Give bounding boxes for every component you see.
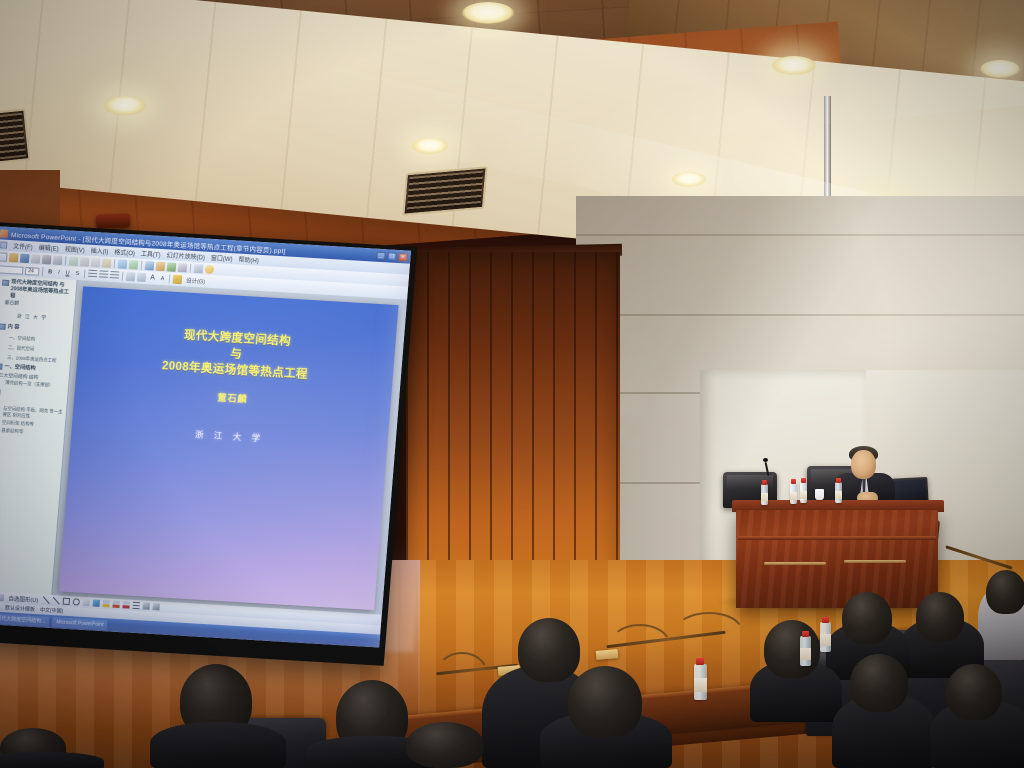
align-left-icon[interactable] bbox=[88, 270, 98, 280]
audience-head-r2 bbox=[916, 592, 964, 642]
mail-icon[interactable] bbox=[31, 254, 41, 264]
audience-shoulder-l4 bbox=[0, 752, 104, 768]
outline-slide-thumb bbox=[0, 323, 6, 329]
slide-layout-icon[interactable] bbox=[178, 262, 188, 272]
underline-button[interactable]: U bbox=[63, 270, 71, 276]
screen-roller-housing bbox=[96, 213, 131, 228]
air-vent-left-slats bbox=[0, 113, 26, 159]
wordart-icon[interactable] bbox=[93, 599, 101, 606]
outline-slide-3[interactable]: 3 一、空间结构 bbox=[0, 362, 68, 374]
design-icon[interactable] bbox=[173, 275, 183, 285]
powerpoint-window: Microsoft PowerPoint - [现代大跨度空间结构与2008年奥… bbox=[0, 226, 411, 647]
insert-picture-icon[interactable] bbox=[167, 262, 177, 272]
bottle-label bbox=[694, 678, 707, 692]
air-vent-slats bbox=[407, 171, 484, 212]
paste-icon[interactable] bbox=[102, 258, 112, 268]
slide-editing-pane[interactable]: 现代大跨度空间结构 与 2008年奥运场馆等热点工程 董石麟 浙 江 大 学 bbox=[52, 280, 407, 615]
toolbar-separator-4 bbox=[190, 263, 192, 272]
audience-head-r3 bbox=[842, 592, 892, 644]
water-bottle-podium-2 bbox=[790, 483, 797, 504]
outline-bullet-3: 三、2008年奥运热点工程 bbox=[0, 353, 68, 364]
menu-item-insert[interactable]: 插入(I) bbox=[90, 246, 108, 256]
bottle-label bbox=[835, 491, 842, 499]
bottle-label bbox=[800, 648, 811, 660]
menu-item-edit[interactable]: 编辑(E) bbox=[38, 243, 59, 253]
water-bottle-audience-1 bbox=[820, 622, 831, 652]
bottle-label bbox=[800, 491, 807, 499]
menu-item-file[interactable]: 文件(F) bbox=[13, 241, 33, 251]
ceiling-light-7 bbox=[980, 60, 1020, 78]
outline-slide-thumb bbox=[0, 363, 3, 369]
new-file-icon[interactable] bbox=[0, 252, 8, 262]
ceiling-light-2 bbox=[772, 56, 816, 75]
audience-shoulder-l1 bbox=[150, 722, 286, 768]
ceiling-light-6 bbox=[412, 138, 448, 154]
bullets-icon[interactable] bbox=[126, 272, 136, 282]
menu-item-tools[interactable]: 工具(T) bbox=[141, 249, 161, 259]
audience-head-r5 bbox=[850, 654, 908, 712]
design-button[interactable]: 设计(G) bbox=[184, 276, 208, 285]
screen-surface: Microsoft PowerPoint - [现代大跨度空间结构与2008年奥… bbox=[0, 226, 411, 647]
bottle-label bbox=[761, 493, 768, 501]
water-bottle-audience-2 bbox=[800, 636, 811, 666]
font-size-box[interactable]: 24 bbox=[25, 266, 40, 275]
font-color-icon[interactable] bbox=[123, 601, 131, 608]
toolbar-separator bbox=[65, 256, 67, 265]
outline-slide-thumb bbox=[0, 389, 1, 395]
water-bottle-audience-3 bbox=[694, 664, 707, 700]
audience-head-r4 bbox=[764, 620, 820, 678]
align-right-icon[interactable] bbox=[110, 271, 120, 281]
language-indicator: 中文(中国) bbox=[40, 606, 64, 614]
align-center-icon[interactable] bbox=[99, 270, 109, 280]
oval-icon[interactable] bbox=[73, 598, 81, 605]
outline-slide-title: 一、空间结构 bbox=[4, 363, 36, 372]
podium-handle-left bbox=[764, 562, 826, 565]
bottle-cap bbox=[802, 631, 809, 637]
podium-front-panel bbox=[736, 510, 938, 608]
taskbar-item-2[interactable]: Microsoft PowerPoint bbox=[52, 617, 108, 630]
audience-head-r1 bbox=[986, 570, 1024, 614]
cut-icon[interactable] bbox=[80, 257, 90, 267]
water-bottle-podium-3 bbox=[800, 482, 807, 503]
redo-icon[interactable] bbox=[129, 260, 139, 270]
outline-slide-title: 现代大跨度空间结构 与 2008年奥运场馆等热点工程 bbox=[10, 279, 75, 304]
audience-head-c2 bbox=[568, 666, 642, 738]
outline-bullet-6: 与空间结构 平板、网壳 等一主要区 相对应性 bbox=[0, 405, 64, 422]
italic-button[interactable]: I bbox=[56, 269, 62, 275]
rectangle-icon[interactable] bbox=[63, 598, 71, 605]
bottle-label bbox=[820, 634, 831, 646]
line-style-icon[interactable] bbox=[133, 602, 141, 609]
projection-screen: Microsoft PowerPoint - [现代大跨度空间结构与2008年奥… bbox=[0, 222, 417, 666]
numbering-icon[interactable] bbox=[137, 273, 147, 283]
floor-outlet-box-2 bbox=[596, 649, 619, 660]
spellcheck-icon[interactable] bbox=[69, 256, 79, 266]
fmt-separator-3 bbox=[122, 272, 124, 281]
outline-university: 浙 江 大 学 bbox=[0, 311, 72, 323]
wood-slat-lines bbox=[406, 252, 620, 608]
document-icon bbox=[0, 241, 7, 248]
increase-font-button[interactable]: A bbox=[148, 274, 157, 281]
outline-slide-title: 内 容 bbox=[7, 323, 19, 331]
air-vent-center bbox=[402, 166, 487, 216]
save-icon[interactable] bbox=[20, 253, 30, 263]
menu-item-window[interactable]: 窗口(W) bbox=[211, 253, 233, 263]
water-bottle-podium-4 bbox=[835, 482, 842, 503]
print-icon[interactable] bbox=[42, 254, 52, 264]
audience-head-c1 bbox=[518, 618, 580, 682]
arrow-icon[interactable] bbox=[53, 597, 61, 604]
select-arrow-icon[interactable] bbox=[0, 594, 4, 601]
autoshapes-button[interactable]: 自选图形(U) bbox=[6, 594, 40, 604]
toolbar-separator-2 bbox=[114, 259, 116, 268]
air-vent-left bbox=[0, 108, 31, 163]
ceiling-light-4 bbox=[672, 172, 706, 187]
outline-slide-thumb bbox=[2, 279, 9, 285]
insert-chart-icon[interactable] bbox=[156, 261, 166, 271]
slide-organization: 浙 江 大 学 bbox=[195, 428, 265, 444]
bottle-label bbox=[790, 492, 797, 500]
tea-cup-podium bbox=[815, 489, 824, 500]
menu-item-help[interactable]: 帮助(H) bbox=[238, 255, 259, 265]
bottle-cap bbox=[836, 478, 841, 483]
insert-table-icon[interactable] bbox=[145, 261, 155, 271]
help-icon[interactable] bbox=[205, 264, 215, 274]
bottle-cap bbox=[762, 480, 767, 485]
bold-button[interactable]: B bbox=[46, 269, 54, 275]
audience-head-l3 bbox=[406, 722, 484, 768]
undo-icon[interactable] bbox=[118, 259, 128, 269]
close-button[interactable]: ✕ bbox=[398, 253, 408, 262]
bottle-cap bbox=[822, 617, 829, 623]
ceiling-light-1 bbox=[462, 2, 514, 24]
slide-title-line-3: 2008年奥运场馆等热点工程 bbox=[161, 358, 308, 383]
podium-handle-right bbox=[844, 560, 906, 563]
font-name-box[interactable] bbox=[0, 265, 24, 275]
title-slide[interactable]: 现代大跨度空间结构 与 2008年奥运场馆等热点工程 董石麟 浙 江 大 学 bbox=[59, 286, 399, 610]
restore-button[interactable]: ❐ bbox=[387, 252, 397, 261]
audience-head-r6 bbox=[946, 664, 1002, 720]
powerpoint-workspace: 1 现代大跨度空间结构 与 2008年奥运场馆等热点工程 董石麟 浙 江 大 学… bbox=[0, 275, 407, 615]
menu-item-format[interactable]: 格式(O) bbox=[114, 247, 135, 257]
outline-slide-1[interactable]: 1 现代大跨度空间结构 与 2008年奥运场馆等热点工程 bbox=[0, 278, 74, 304]
slide-author: 董石麟 bbox=[217, 390, 248, 405]
line-color-icon[interactable] bbox=[113, 601, 121, 608]
water-bottle-podium-1 bbox=[761, 484, 768, 505]
fmt-separator-2 bbox=[84, 269, 86, 278]
outline-bullet-1: 一、空间结构 bbox=[0, 333, 70, 344]
bottle-cap bbox=[696, 658, 704, 665]
menu-item-view[interactable]: 视图(V) bbox=[64, 244, 85, 254]
toolbar-separator-3 bbox=[141, 260, 143, 269]
podium-top-moulding bbox=[738, 536, 936, 540]
podium-microphone-head bbox=[763, 458, 768, 462]
ceiling-light-5 bbox=[104, 96, 146, 115]
line-icon[interactable] bbox=[43, 597, 51, 604]
print-preview-icon[interactable] bbox=[53, 255, 63, 265]
shadow-button[interactable]: S bbox=[73, 270, 81, 276]
slide-title-line-2: 与 bbox=[230, 346, 243, 363]
open-folder-icon[interactable] bbox=[9, 252, 19, 262]
zoom-icon[interactable] bbox=[194, 263, 204, 273]
bottle-cap bbox=[801, 478, 806, 483]
screen-frame: Microsoft PowerPoint - [现代大跨度空间结构与2008年奥… bbox=[0, 222, 417, 666]
powerpoint-app-icon bbox=[0, 229, 8, 237]
copy-icon[interactable] bbox=[91, 257, 101, 267]
decrease-font-button[interactable]: A bbox=[159, 275, 167, 281]
outline-slide-2[interactable]: 2 内 容 bbox=[0, 323, 71, 335]
3d-style-icon[interactable] bbox=[153, 603, 161, 610]
speaker-head bbox=[851, 450, 876, 479]
taskbar-item-1[interactable]: 现代大跨度空间结构... bbox=[0, 613, 50, 626]
bottle-cap bbox=[791, 479, 796, 484]
window-buttons: _ ❐ ✕ bbox=[376, 251, 408, 261]
minimize-button[interactable]: _ bbox=[376, 251, 386, 260]
lecture-hall-photo: Microsoft PowerPoint - [现代大跨度空间结构与2008年奥… bbox=[0, 0, 1024, 768]
wood-slat-wall-panel bbox=[406, 252, 620, 608]
fill-color-icon[interactable] bbox=[103, 600, 111, 607]
outline-bullet-2: 二、现代空间 bbox=[0, 343, 69, 354]
fmt-separator-4 bbox=[169, 274, 171, 283]
textbox-icon[interactable] bbox=[83, 599, 91, 606]
podium-wood-grain bbox=[736, 510, 938, 608]
fmt-separator bbox=[42, 267, 44, 276]
shadow-style-icon[interactable] bbox=[143, 602, 151, 609]
